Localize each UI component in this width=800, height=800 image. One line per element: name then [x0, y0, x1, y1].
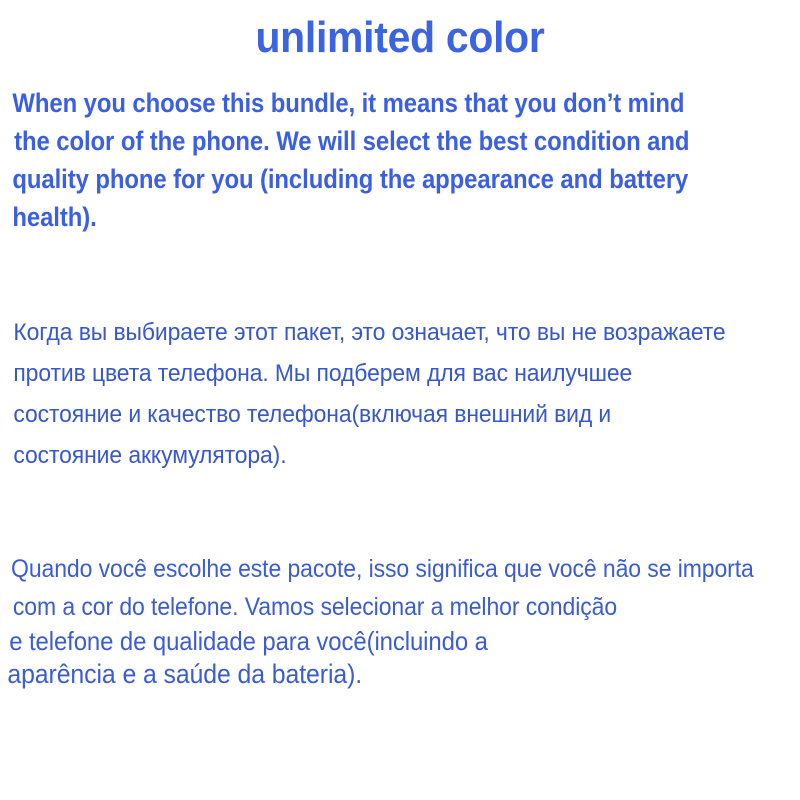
paragraph-english-line-4: health). [0, 198, 708, 236]
paragraph-russian-line-1: Когда вы выбираете этот пакет, это означ… [0, 312, 764, 353]
paragraph-english-line-1: When you choose this bundle, it means th… [0, 84, 708, 122]
paragraph-russian-line-2: против цвета телефона. Мы подберем для в… [0, 353, 764, 394]
paragraph-portuguese-line-1: Quando você escolhe este pacote, isso si… [0, 550, 736, 588]
paragraph-english: When you choose this bundle, it means th… [0, 84, 800, 236]
page-title: unlimited color [28, 14, 772, 62]
paragraph-portuguese-line-4: aparência e a saúde da bateria). [0, 657, 736, 691]
paragraph-portuguese-line-2: com a cor do telefone. Vamos selecionar … [0, 588, 736, 626]
paragraph-portuguese: Quando você escolhe este pacote, isso si… [0, 550, 800, 691]
paragraph-russian: Когда вы выбираете этот пакет, это означ… [0, 312, 800, 476]
paragraph-russian-line-4: состояние аккумулятора). [0, 435, 764, 476]
product-description-page: unlimited color When you choose this bun… [0, 0, 800, 800]
paragraph-russian-line-3: состояние и качество телефона(включая вн… [0, 394, 764, 435]
paragraph-portuguese-line-3: e telefone de qualidade para você(inclui… [0, 626, 736, 657]
paragraph-english-line-3: quality phone for you (including the app… [0, 160, 708, 198]
paragraph-english-line-2: the color of the phone. We will select t… [0, 122, 708, 160]
